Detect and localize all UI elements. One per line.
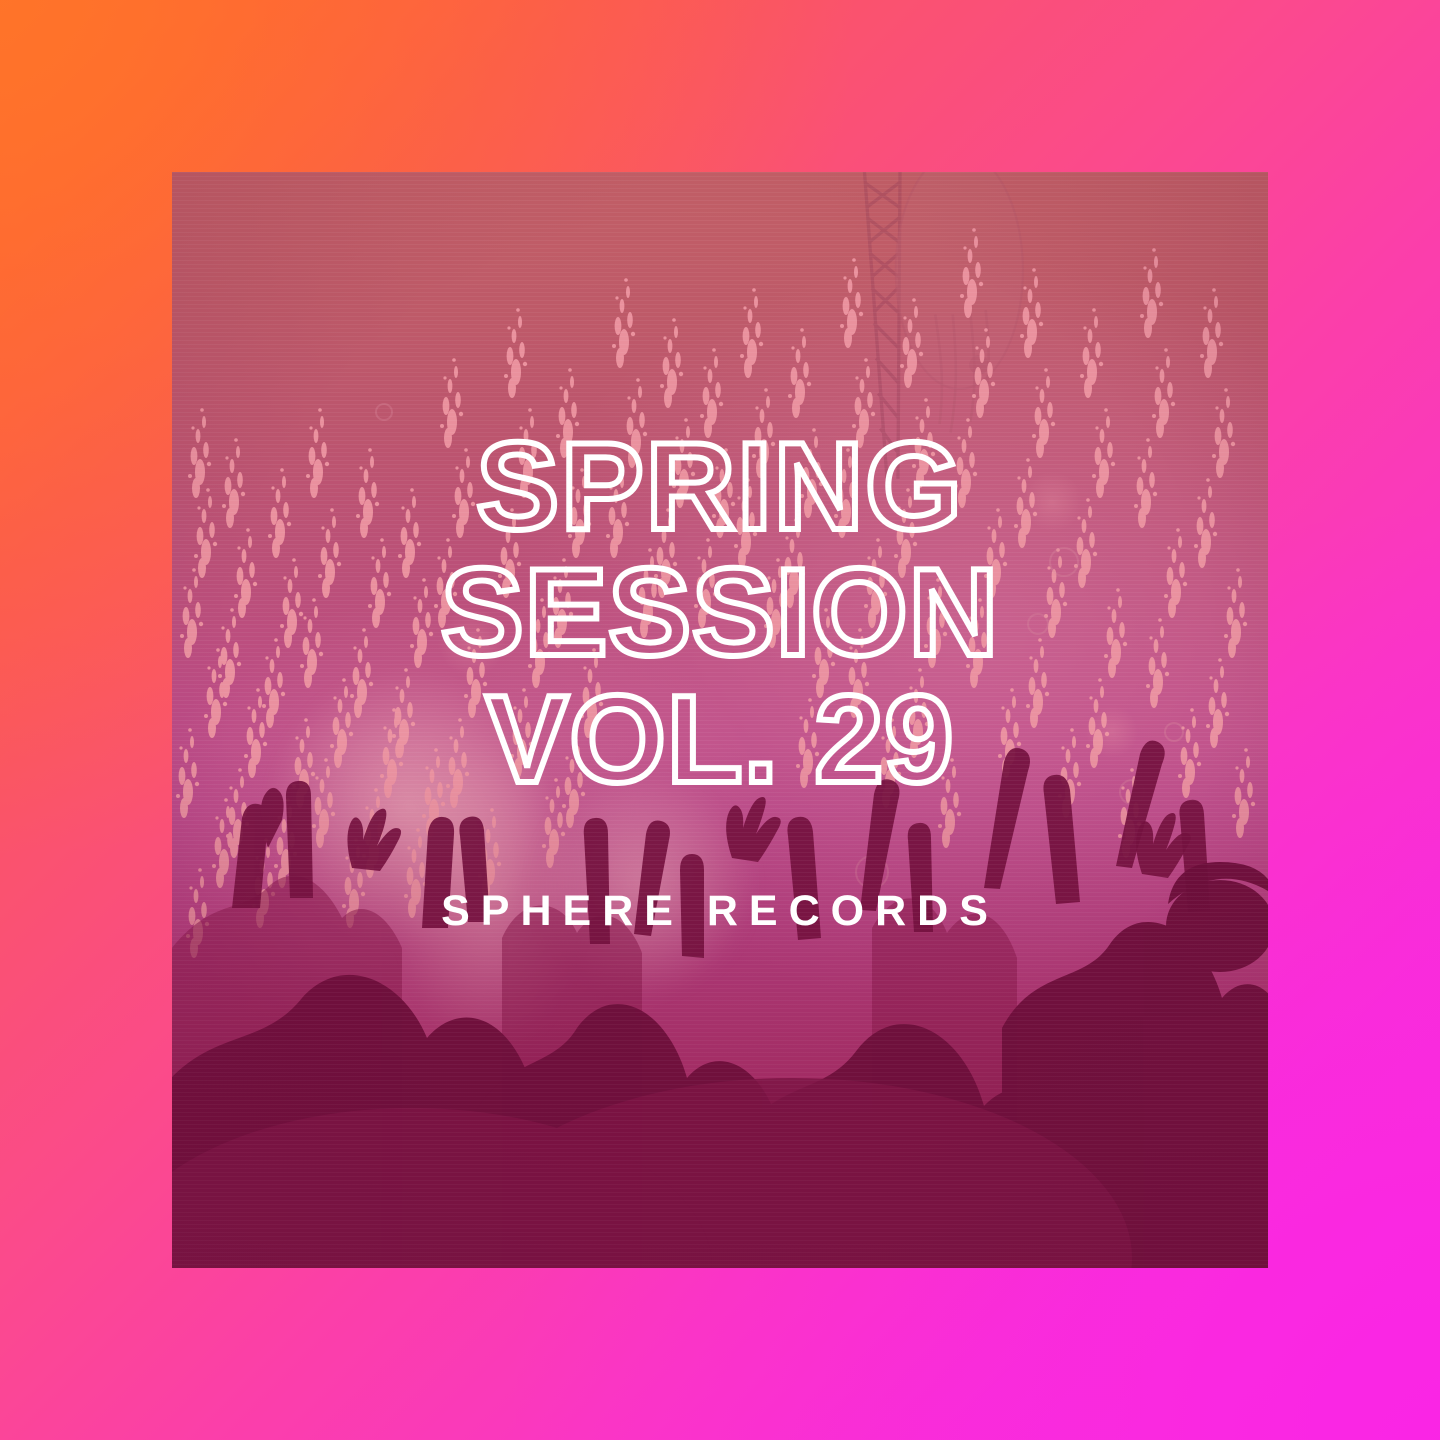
crowd-silhouettes <box>172 698 1268 1268</box>
album-cover-poster: SPRING SESSION VOL. 29 SPHERE RECORDS <box>0 0 1440 1440</box>
concert-photo-panel: SPRING SESSION VOL. 29 SPHERE RECORDS <box>172 172 1268 1268</box>
